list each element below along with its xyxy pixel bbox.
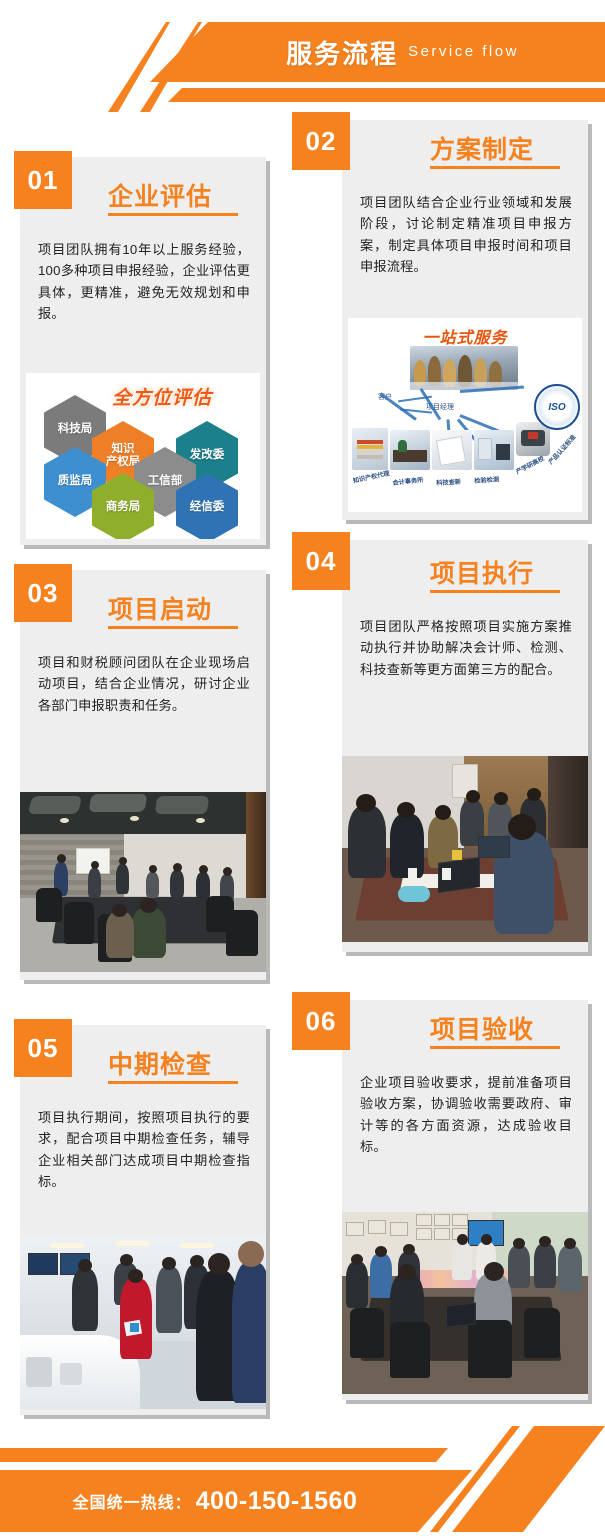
card-body: 企业评估 项目团队拥有10年以上服务经验，100多种项目申报经验，企业评估更具体… [20, 157, 266, 545]
card-number-badge: 04 [292, 532, 350, 590]
hotline-number[interactable]: 400-150-1560 [196, 1487, 358, 1516]
card-06[interactable]: 项目验收 企业项目验收要求，提前准备项目验收方案，协调验收需要政府、审计等的各方… [342, 1000, 588, 1400]
hex-node-label: 商务局 [106, 501, 141, 514]
hex-node-label: 科技局 [58, 423, 93, 436]
one-stop-diagram-title: 一站式服务 [348, 324, 582, 348]
hotline-label: 全国统一热线： [73, 1489, 192, 1513]
leaf-label-ip-agency: 知识产权代理 [352, 468, 390, 485]
one-stop-service-diagram: 一站式服务 客户 项目经理 [348, 318, 582, 512]
seal-label: ISO [548, 402, 565, 413]
card-title: 企业评估 [108, 177, 212, 213]
flow-arrow [380, 392, 417, 420]
card-title-underline [430, 166, 560, 169]
card-02[interactable]: 方案制定 项目团队结合企业行业领域和发展阶段，讨论制定精准项目申报方案，制定具体… [342, 120, 588, 520]
card-title: 方案制定 [430, 130, 534, 166]
card-description: 企业项目验收要求，提前准备项目验收方案，协调验收需要政府、审计等的各方面资源，达… [360, 1072, 572, 1158]
footer-accent-bar [0, 1448, 448, 1462]
leaf-photo-sci-tech-search [432, 430, 472, 470]
card-number-badge: 02 [292, 112, 350, 170]
footer-hotline-group: 全国统一热线： 400-150-1560 [0, 1470, 430, 1532]
card-number-badge: 05 [14, 1019, 72, 1077]
card-04[interactable]: 项目执行 项目团队严格按照项目实施方案推动执行并协助解决会计师、检测、科技查新等… [342, 540, 588, 952]
hex-diagram-title: 全方位评估 [112, 383, 212, 410]
photo-working-session [342, 756, 588, 942]
hex-node-label: 质监局 [58, 475, 93, 488]
card-body: 项目执行 项目团队严格按照项目实施方案推动执行并协助解决会计师、检测、科技查新等… [342, 540, 588, 952]
photo-meeting-room [20, 792, 266, 972]
page-footer: 全国统一热线： 400-150-1560 [0, 1426, 605, 1538]
photo-site-visit [20, 1237, 266, 1409]
one-stop-center-photo [410, 346, 518, 390]
card-description: 项目和财税顾问团队在企业现场启动项目，结合企业情况，研讨企业各部门申报职责和任务… [38, 652, 250, 716]
card-title: 项目验收 [430, 1010, 534, 1046]
card-title-underline [108, 626, 238, 629]
leaf-photo-inspection [474, 430, 514, 470]
card-number-badge: 03 [14, 564, 72, 622]
hex-node-label: 工信部 [148, 475, 183, 488]
card-title-underline [430, 590, 560, 593]
hex-node-label: 经信委 [190, 501, 225, 514]
card-03[interactable]: 项目启动 项目和财税顾问团队在企业现场启动项目，结合企业情况，研讨企业各部门申报… [20, 570, 266, 980]
leaf-label-accounting: 会计事务所 [392, 475, 424, 487]
card-body: 中期检查 项目执行期间，按照项目执行的要求，配合项目中期检查任务，辅导企业相关部… [20, 1025, 266, 1415]
card-title: 项目启动 [108, 590, 212, 626]
leaf-label-product-certification: 产品认证标准 [546, 432, 578, 466]
leaf-label-sci-tech-search: 科技查新 [436, 477, 461, 487]
leaf-photo-ip-agency [352, 428, 388, 470]
card-title: 项目执行 [430, 554, 534, 590]
service-flow-poster: 服务流程 Service flow 企业评估 项目团队拥有10年以上服务经验，1… [0, 0, 605, 1538]
photo-acceptance-meeting [342, 1212, 588, 1394]
leaf-label-university-industry: 产学研高校 [514, 453, 546, 475]
card-body: 方案制定 项目团队结合企业行业领域和发展阶段，讨论制定精准项目申报方案，制定具体… [342, 120, 588, 520]
card-05[interactable]: 中期检查 项目执行期间，按照项目执行的要求，配合项目中期检查任务，辅导企业相关部… [20, 1025, 266, 1415]
card-description: 项目团队拥有10年以上服务经验，100多种项目申报经验，企业评估更具体，更精准，… [38, 239, 250, 325]
card-body: 项目启动 项目和财税顾问团队在企业现场启动项目，结合企业情况，研讨企业各部门申报… [20, 570, 266, 980]
card-title-underline [108, 1081, 238, 1084]
card-description: 项目团队严格按照项目实施方案推动执行并协助解决会计师、检测、科技查新等更方面第三… [360, 616, 572, 680]
card-title-underline [108, 213, 238, 216]
card-description: 项目执行期间，按照项目执行的要求，配合项目中期检查任务，辅导企业相关部门达成项目… [38, 1107, 250, 1193]
certification-seal-icon: ISO [534, 384, 580, 430]
card-01[interactable]: 企业评估 项目团队拥有10年以上服务经验，100多种项目申报经验，企业评估更具体… [20, 157, 266, 545]
card-title-underline [430, 1046, 560, 1049]
card-number-badge: 01 [14, 151, 72, 209]
card-title: 中期检查 [108, 1045, 212, 1081]
hex-node-label: 发改委 [190, 449, 225, 462]
card-body: 项目验收 企业项目验收要求，提前准备项目验收方案，协调验收需要政府、审计等的各方… [342, 1000, 588, 1400]
cards-grid: 企业评估 项目团队拥有10年以上服务经验，100多种项目申报经验，企业评估更具体… [0, 0, 605, 1538]
card-number-badge: 06 [292, 992, 350, 1050]
leaf-label-inspection: 检验检测 [474, 474, 499, 485]
leaf-photo-accounting [390, 430, 430, 470]
card-description: 项目团队结合企业行业领域和发展阶段，讨论制定精准项目申报方案，制定具体项目申报时… [360, 192, 572, 278]
hex-diagram: 全方位评估 科技局 知识 产权局 发改委 质监局 工信部 [26, 373, 260, 539]
